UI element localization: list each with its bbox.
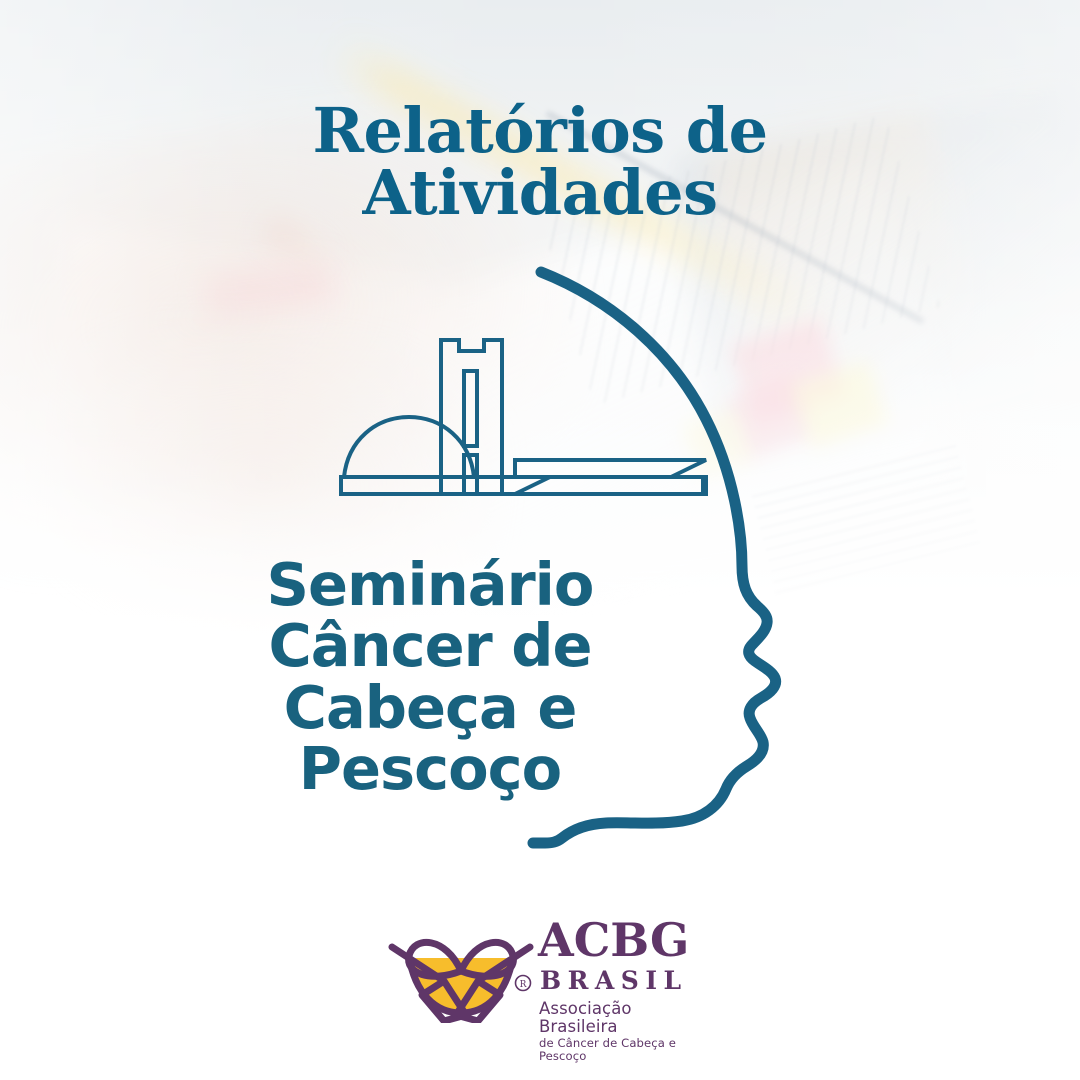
registered-trademark-icon: R xyxy=(516,976,531,991)
logo-subtitle-1: Associação Brasileira xyxy=(539,1000,702,1036)
seminar-title: Seminário Câncer de Cabeça e Pescoço xyxy=(150,554,710,799)
logo-brasil-text: BRASIL xyxy=(540,968,702,993)
acbg-brasil-logo: R ACBG BRASIL Associação Brasileira de C… xyxy=(386,915,702,1027)
acbg-bowl-mark-icon: R xyxy=(386,915,536,1023)
svg-text:R: R xyxy=(520,980,527,990)
logo-subtitle-2: de Câncer de Cabeça e Pescoço xyxy=(539,1037,702,1063)
poster-canvas: Relatórios de Atividades Seminário Cânce… xyxy=(0,0,1080,1080)
acbg-wordmark: ACBG BRASIL Associação Brasileira de Cân… xyxy=(538,917,702,1025)
page-title: Relatórios de Atividades xyxy=(0,100,1080,224)
brasilia-national-congress-icon xyxy=(341,340,706,494)
logo-acbg-text: ACBG xyxy=(538,917,702,963)
